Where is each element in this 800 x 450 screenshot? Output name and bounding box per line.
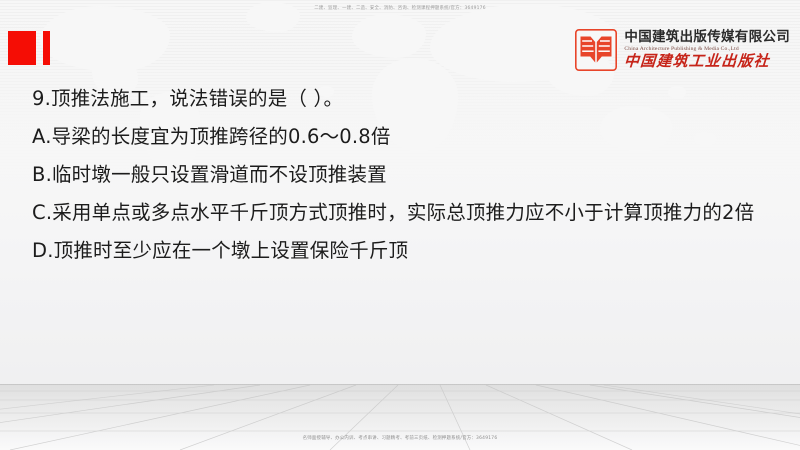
publisher-logo-text: 中国建筑出版传媒有限公司 China Architecture Publishi…	[624, 31, 790, 70]
accent-block-thin	[43, 31, 50, 65]
accent-block-large	[8, 31, 36, 65]
question-option-d[interactable]: D.顶推时至少应在一个墩上设置保险千斤顶	[32, 232, 777, 270]
accent-bar-group	[8, 31, 68, 65]
question-stem: 9.顶推法施工，说法错误的是（ ）。	[32, 80, 777, 118]
question-option-c[interactable]: C.采用单点或多点水平千斤顶方式顶推时，实际总顶推力应不小于计算顶推力的2倍	[32, 194, 777, 232]
slide-root: 二建、监理、一建、二造、安全、消防、咨询、检测课程押题系统/官方：3649176…	[0, 0, 800, 450]
question-body: 9.顶推法施工，说法错误的是（ ）。 A.导梁的长度宜为顶推跨径的0.6～0.8…	[32, 80, 777, 270]
publisher-company-name-cn: 中国建筑出版传媒有限公司	[624, 31, 790, 45]
watermark-bottom: 名师面授辅导、办公内训、考点串讲、习题精考、考前三页纸、检测押题系统/官方：36…	[0, 435, 800, 441]
watermark-top: 二建、监理、一建、二造、安全、消防、咨询、检测课程押题系统/官方：3649176	[0, 5, 800, 11]
question-option-a[interactable]: A.导梁的长度宜为顶推跨径的0.6～0.8倍	[32, 118, 777, 156]
publisher-logo: 中国建筑出版传媒有限公司 China Architecture Publishi…	[575, 26, 790, 74]
publisher-press-name-cn: 中国建筑工业出版社	[624, 54, 791, 69]
question-option-b[interactable]: B.临时墩一般只设置滑道而不设顶推装置	[32, 156, 777, 194]
publisher-logo-mark-icon	[575, 29, 617, 71]
